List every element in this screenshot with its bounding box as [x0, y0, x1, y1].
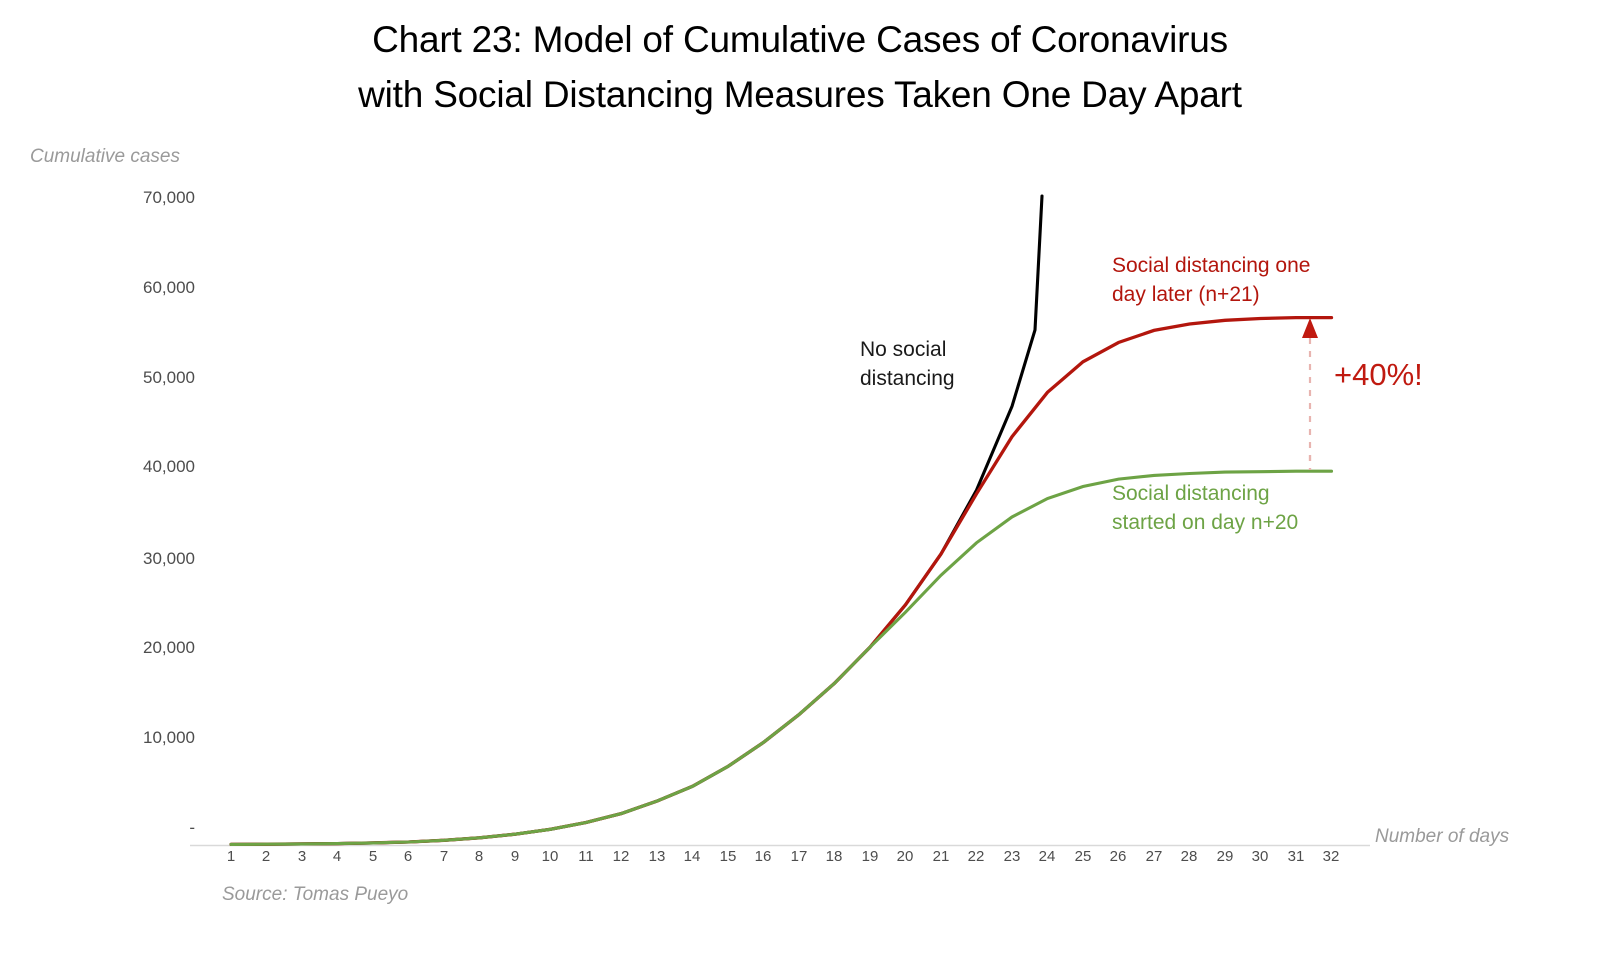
- x-tick-label: 8: [459, 848, 499, 865]
- x-tick-label: 19: [850, 848, 890, 865]
- annotation-day-n20-line-1: Social distancing: [1112, 479, 1298, 508]
- annotation-one-day-later-line-1: Social distancing one: [1112, 251, 1310, 280]
- x-tick-label: 10: [530, 848, 570, 865]
- x-tick-label: 7: [424, 848, 464, 865]
- x-tick-label: 27: [1134, 848, 1174, 865]
- delta-arrow-icon: [1302, 318, 1318, 338]
- annotation-delta-percent: +40%!: [1334, 360, 1423, 389]
- annotation-one-day-later: Social distancing one day later (n+21): [1112, 251, 1310, 309]
- annotation-no-social-distancing-line-1: No social: [860, 335, 955, 364]
- annotation-no-social-distancing: No social distancing: [860, 335, 955, 393]
- annotation-day-n20-line-2: started on day n+20: [1112, 508, 1298, 537]
- x-tick-label: 4: [317, 848, 357, 865]
- x-tick-label: 5: [353, 848, 393, 865]
- x-tick-label: 24: [1027, 848, 1067, 865]
- x-tick-label: 22: [956, 848, 996, 865]
- x-tick-label: 12: [601, 848, 641, 865]
- x-tick-label: 6: [388, 848, 428, 865]
- x-tick-label: 13: [637, 848, 677, 865]
- chart-canvas: Chart 23: Model of Cumulative Cases of C…: [0, 0, 1600, 967]
- series-line-no-social-distancing: [231, 196, 1042, 844]
- x-tick-label: 31: [1276, 848, 1316, 865]
- x-tick-label: 29: [1205, 848, 1245, 865]
- x-tick-label: 20: [885, 848, 925, 865]
- x-tick-label: 2: [246, 848, 286, 865]
- annotation-one-day-later-line-2: day later (n+21): [1112, 280, 1310, 309]
- x-tick-label: 32: [1311, 848, 1351, 865]
- x-tick-label: 11: [566, 848, 606, 865]
- x-tick-label: 30: [1240, 848, 1280, 865]
- x-tick-label: 3: [282, 848, 322, 865]
- x-tick-label: 26: [1098, 848, 1138, 865]
- x-tick-label: 16: [743, 848, 783, 865]
- x-tick-label: 18: [814, 848, 854, 865]
- x-tick-label: 28: [1169, 848, 1209, 865]
- x-tick-label: 25: [1063, 848, 1103, 865]
- plot-area: [0, 0, 1600, 967]
- x-tick-label: 15: [708, 848, 748, 865]
- x-tick-label: 17: [779, 848, 819, 865]
- x-tick-label: 1: [211, 848, 251, 865]
- x-tick-label: 23: [992, 848, 1032, 865]
- x-tick-label: 21: [921, 848, 961, 865]
- annotation-day-n20: Social distancing started on day n+20: [1112, 479, 1298, 537]
- series-line-one-day-later: [231, 318, 1332, 845]
- annotation-no-social-distancing-line-2: distancing: [860, 364, 955, 393]
- x-tick-label: 14: [672, 848, 712, 865]
- x-tick-label: 9: [495, 848, 535, 865]
